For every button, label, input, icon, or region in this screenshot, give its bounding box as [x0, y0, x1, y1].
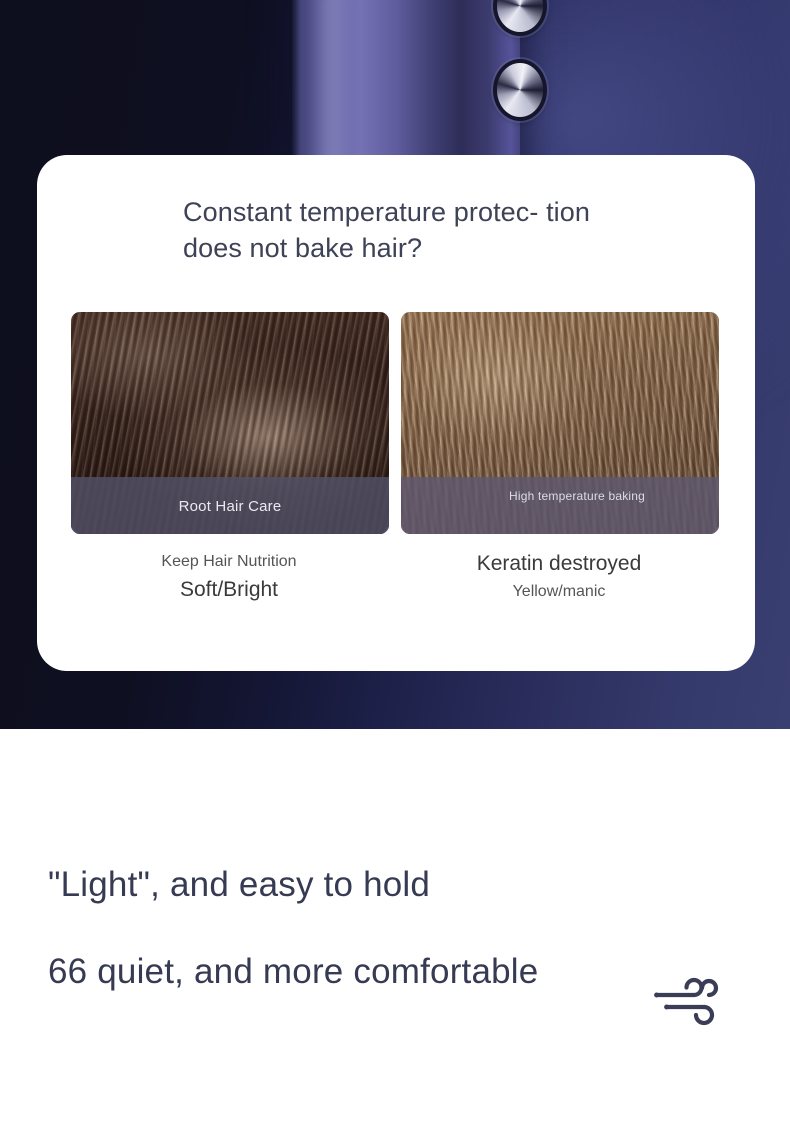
- caption-primary-good: Keep Hair Nutrition: [64, 549, 394, 575]
- info-panel: Constant temperature protec- tion does n…: [37, 155, 755, 671]
- feature-subtitle: 66 quiet, and more comfortable: [48, 951, 538, 993]
- caption-secondary-good: Soft/Bright: [64, 575, 394, 605]
- comparison-card-good[interactable]: Root Hair Care: [71, 312, 389, 534]
- card-overlay-good: Root Hair Care: [71, 477, 389, 534]
- comparison-card-bad[interactable]: High temperature baking: [401, 312, 719, 534]
- dryer-highlight: [310, 0, 354, 166]
- caption-secondary-bad: Yellow/manic: [394, 579, 724, 605]
- card-overlay-bad: High temperature baking: [401, 477, 719, 534]
- caption-group-bad: Keratin destroyed Yellow/manic: [394, 549, 724, 605]
- hair-dryer-product-image: [292, 0, 520, 166]
- caption-primary-bad: Keratin destroyed: [394, 549, 724, 579]
- page-title: Constant temperature protec- tion does n…: [183, 194, 603, 266]
- dryer-left-edge-shadow: [292, 0, 300, 166]
- wind-icon: [654, 977, 726, 1027]
- comparison-captions: Keep Hair Nutrition Soft/Bright Keratin …: [37, 549, 755, 629]
- hero-section: Constant temperature protec- tion does n…: [0, 0, 790, 729]
- comparison-gallery: Root Hair Care High temperature baking: [71, 312, 721, 534]
- feature-title: "Light", and easy to hold: [48, 864, 430, 906]
- caption-group-good: Keep Hair Nutrition Soft/Bright: [64, 549, 394, 605]
- metal-button-middle-icon: [497, 63, 543, 117]
- overlay-label-bad: High temperature baking: [509, 489, 645, 504]
- overlay-label-good: Root Hair Care: [71, 499, 389, 514]
- features-section: "Light", and easy to hold 66 quiet, and …: [0, 729, 790, 1126]
